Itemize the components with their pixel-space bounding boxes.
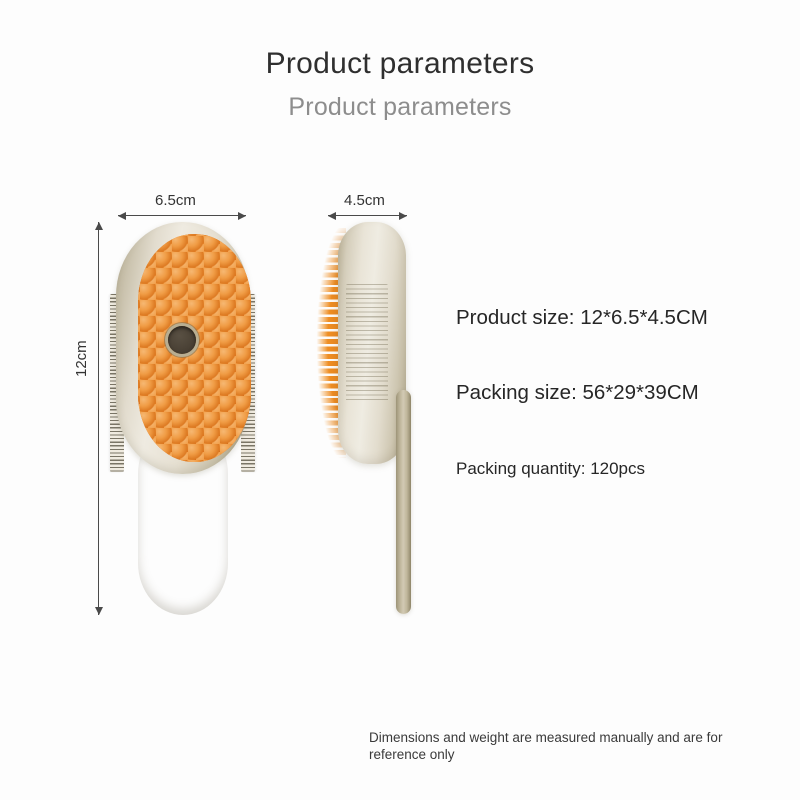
page-title: Product parameters <box>0 47 800 81</box>
brush-side-ridges <box>346 284 388 402</box>
spec-packing-size: Packing size: 56*29*39CM <box>456 381 699 405</box>
dimension-arrow-width-front <box>118 215 246 216</box>
dimension-arrow-width-side <box>328 215 407 216</box>
brush-center-hole <box>168 326 196 354</box>
page-subtitle: Product parameters <box>0 93 800 122</box>
brush-side-handle <box>396 390 411 614</box>
pet-brush-front-view <box>104 222 261 615</box>
product-parameters-canvas: Product parameters Product parameters 6.… <box>0 0 800 800</box>
pet-brush-side-view <box>300 222 430 615</box>
spec-product-size: Product size: 12*6.5*4.5CM <box>456 306 708 330</box>
dimension-label-height: 12cm <box>73 340 90 377</box>
dimension-arrow-height <box>98 222 99 615</box>
dimension-label-width-front: 6.5cm <box>155 192 196 209</box>
brush-head-body <box>116 222 249 474</box>
measurement-disclaimer: Dimensions and weight are measured manua… <box>369 729 769 763</box>
brush-nub-grid <box>138 234 251 462</box>
spec-packing-quantity: Packing quantity: 120pcs <box>456 459 645 479</box>
dimension-label-width-side: 4.5cm <box>344 192 385 209</box>
brush-silicone-pad <box>138 234 251 462</box>
